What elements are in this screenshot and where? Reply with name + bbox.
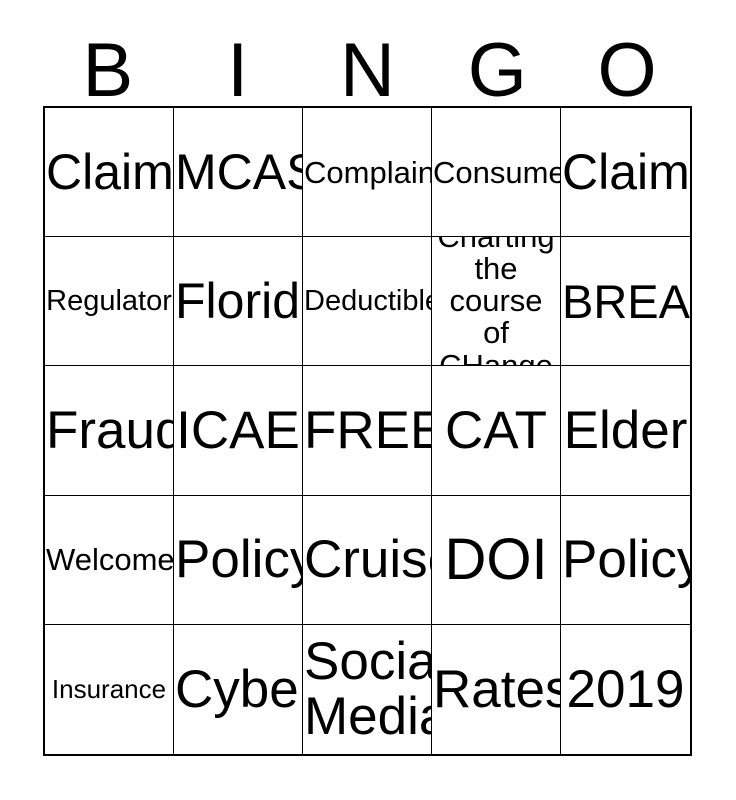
bingo-cell-label: Policy (562, 533, 689, 586)
bingo-cell[interactable]: ICAE (174, 366, 303, 495)
bingo-cell[interactable]: Fraud (45, 366, 174, 495)
bingo-cell[interactable]: Rates (432, 625, 561, 754)
bingo-cell[interactable]: CAT (432, 366, 561, 495)
bingo-header-letter-b: B (43, 26, 173, 106)
bingo-header-letter-i: I (173, 26, 303, 106)
bingo-cell-label: DOI (433, 531, 559, 589)
bingo-cell-label: FREE (304, 404, 430, 457)
bingo-cell-label: Regulator (46, 287, 172, 316)
bingo-cell[interactable]: Consumer (432, 108, 561, 237)
bingo-cell[interactable]: Elder (561, 366, 690, 495)
bingo-card: BINGO ClaimMCASComplaintConsumerClaimReg… (0, 0, 736, 800)
bingo-cell-label: Policy (175, 533, 301, 586)
bingo-cell-label: Complaint (304, 157, 430, 188)
bingo-cell-label: Elder (562, 404, 689, 457)
bingo-cell-label: Rates (433, 663, 559, 716)
bingo-cell-label: MCAS (175, 147, 301, 197)
bingo-cell[interactable]: FREE (303, 366, 432, 495)
bingo-header-row: BINGO (43, 26, 692, 106)
bingo-cell[interactable]: Cyber (174, 625, 303, 754)
bingo-cell[interactable]: Deductible (303, 237, 432, 366)
bingo-cell-label: Cruise (304, 533, 430, 586)
bingo-cell-label: Claim (562, 147, 689, 197)
bingo-cell-label: Charting the course of CHange (433, 237, 559, 366)
bingo-cell-label: Cyber (175, 663, 301, 716)
bingo-cell[interactable]: Social Media (303, 625, 432, 754)
bingo-header-letter-o: O (562, 26, 692, 106)
bingo-grid: ClaimMCASComplaintConsumerClaimRegulator… (43, 106, 692, 756)
bingo-cell[interactable]: MCAS (174, 108, 303, 237)
bingo-cell[interactable]: Policy (174, 496, 303, 625)
bingo-cell-label: Claim (46, 147, 172, 197)
bingo-cell[interactable]: Policy (561, 496, 690, 625)
bingo-cell[interactable]: DOI (432, 496, 561, 625)
bingo-cell[interactable]: Insurance (45, 625, 174, 754)
bingo-cell-label: CAT (433, 404, 559, 457)
bingo-header-letter-n: N (303, 26, 433, 106)
bingo-cell-label: Social Media (304, 634, 430, 744)
bingo-cell-label: BREAK (562, 278, 689, 325)
bingo-cell[interactable]: Cruise (303, 496, 432, 625)
bingo-header-letter-g: G (432, 26, 562, 106)
bingo-cell[interactable]: Welcome (45, 496, 174, 625)
bingo-cell-label: Insurance (46, 676, 172, 702)
bingo-cell[interactable]: Regulator (45, 237, 174, 366)
bingo-cell-label: ICAE (175, 404, 301, 457)
bingo-cell-label: Fraud (46, 404, 172, 457)
bingo-cell[interactable]: Claim (45, 108, 174, 237)
bingo-cell[interactable]: Complaint (303, 108, 432, 237)
bingo-cell[interactable]: Charting the course of CHange (432, 237, 561, 366)
bingo-cell-label: Florida (175, 276, 301, 326)
bingo-cell-label: Consumer (433, 157, 559, 188)
bingo-cell-label: 2019 (562, 663, 689, 716)
bingo-cell[interactable]: Florida (174, 237, 303, 366)
bingo-cell-label: Welcome (46, 544, 172, 575)
bingo-cell[interactable]: 2019 (561, 625, 690, 754)
bingo-cell[interactable]: Claim (561, 108, 690, 237)
bingo-cell-label: Deductible (304, 287, 430, 316)
bingo-cell[interactable]: BREAK (561, 237, 690, 366)
